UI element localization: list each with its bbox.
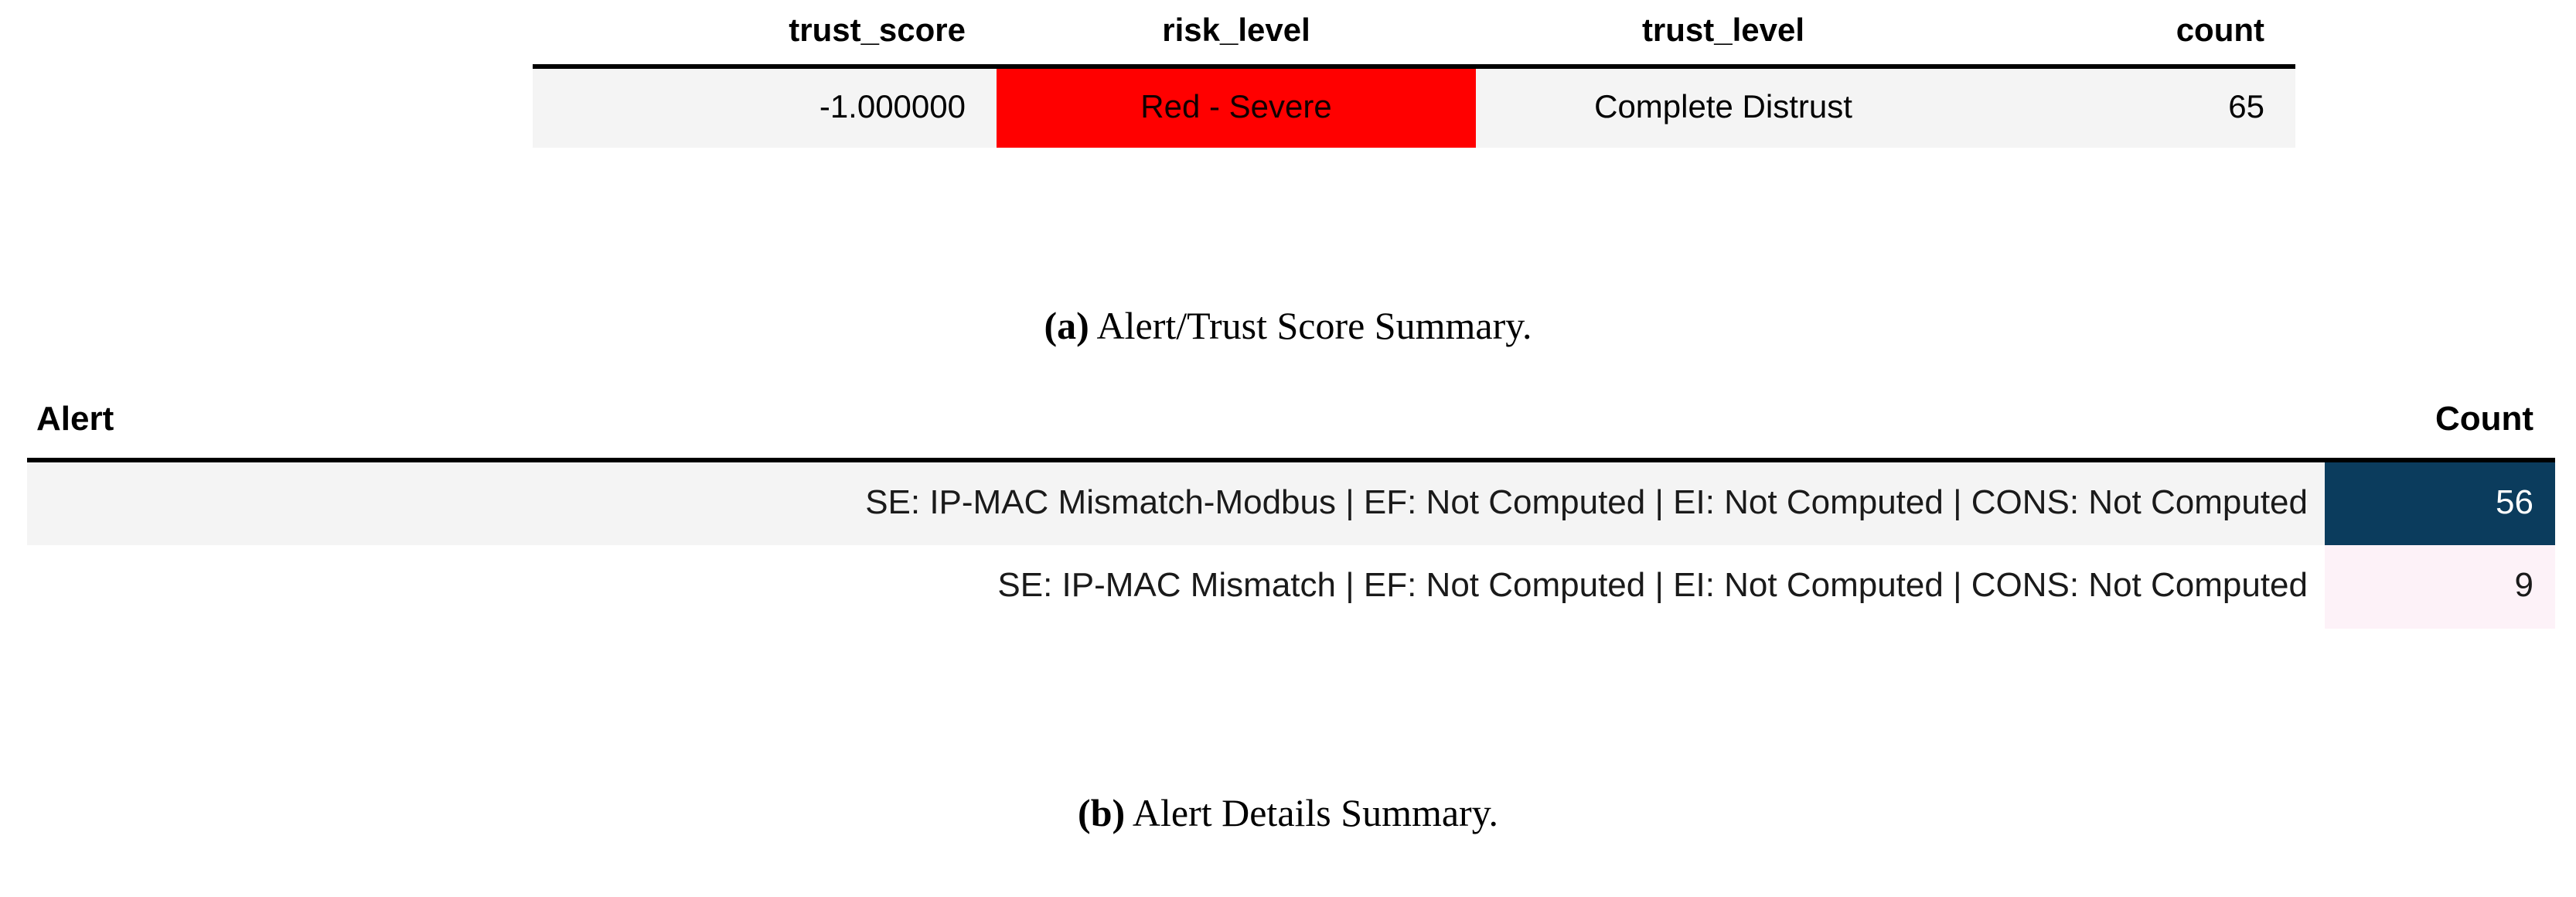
caption-b-label: (b) bbox=[1078, 791, 1125, 834]
caption-subfigure-a: (a) Alert/Trust Score Summary. bbox=[0, 303, 2576, 348]
caption-subfigure-b: (b) Alert Details Summary. bbox=[0, 790, 2576, 835]
column-header-count: Count bbox=[2325, 393, 2555, 460]
alert-trust-score-table: trust_score risk_level trust_level count… bbox=[533, 6, 2295, 148]
cell-trust-level: Complete Distrust bbox=[1476, 67, 1971, 147]
alert-details-table: Alert Count SE: IP-MAC Mismatch-Modbus |… bbox=[27, 393, 2555, 629]
cell-count: 65 bbox=[1971, 67, 2295, 147]
cell-risk-level: Red - Severe bbox=[997, 67, 1476, 147]
table-row: -1.000000 Red - Severe Complete Distrust… bbox=[533, 67, 2295, 147]
risk-level-badge: Red - Severe bbox=[997, 69, 1476, 147]
column-header-alert: Alert bbox=[27, 393, 2325, 460]
table-header-row: trust_score risk_level trust_level count bbox=[533, 6, 2295, 67]
column-header-trust-score: trust_score bbox=[533, 6, 997, 67]
table-header-row: Alert Count bbox=[27, 393, 2555, 460]
cell-count: 56 bbox=[2325, 460, 2555, 546]
column-header-trust-level: trust_level bbox=[1476, 6, 1971, 67]
column-header-risk-level: risk_level bbox=[997, 6, 1476, 67]
table-row: SE: IP-MAC Mismatch-Modbus | EF: Not Com… bbox=[27, 460, 2555, 546]
cell-trust-score: -1.000000 bbox=[533, 67, 997, 147]
cell-count: 9 bbox=[2325, 545, 2555, 629]
cell-alert: SE: IP-MAC Mismatch | EF: Not Computed |… bbox=[27, 545, 2325, 629]
caption-a-label: (a) bbox=[1044, 304, 1089, 347]
caption-b-text: Alert Details Summary. bbox=[1125, 791, 1498, 834]
caption-a-text: Alert/Trust Score Summary. bbox=[1089, 304, 1532, 347]
table-row: SE: IP-MAC Mismatch | EF: Not Computed |… bbox=[27, 545, 2555, 629]
column-header-count: count bbox=[1971, 6, 2295, 67]
cell-alert: SE: IP-MAC Mismatch-Modbus | EF: Not Com… bbox=[27, 460, 2325, 546]
